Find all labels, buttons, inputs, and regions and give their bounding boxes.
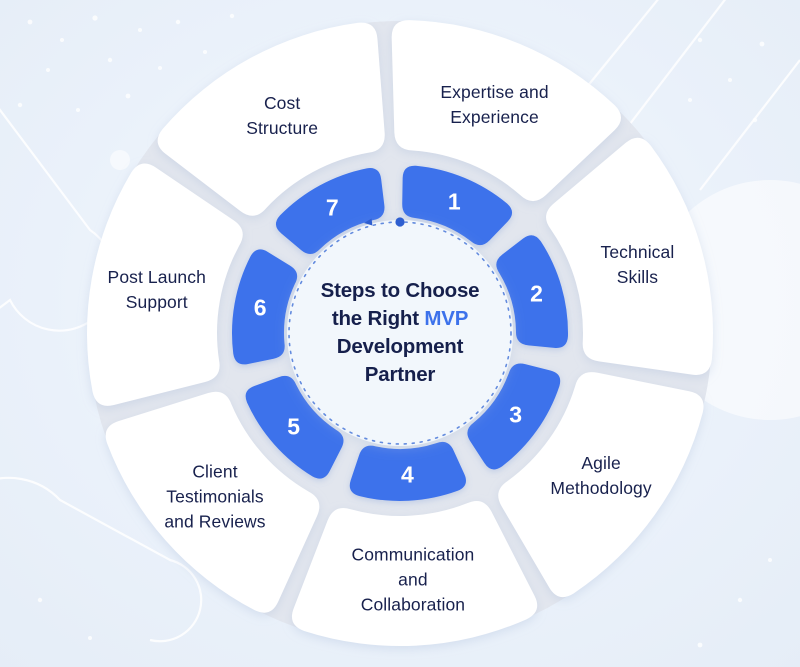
center-hub bbox=[287, 220, 513, 446]
inner-number-segment[interactable] bbox=[350, 442, 466, 501]
radial-step-wheel bbox=[0, 0, 800, 667]
infographic-canvas: 1234567 Expertise and ExperienceTechnica… bbox=[0, 0, 800, 667]
flow-start-dot bbox=[395, 217, 404, 226]
